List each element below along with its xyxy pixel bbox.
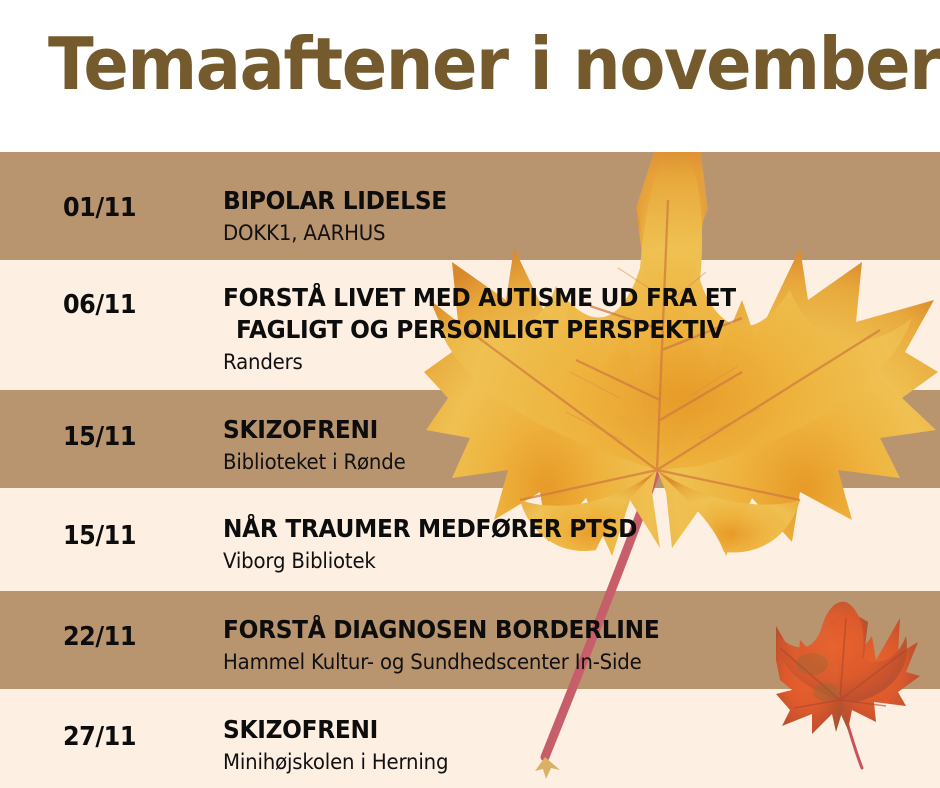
poster-header: Temaaftener i november [0,0,940,152]
schedule-bands [0,152,940,788]
schedule-band [0,591,940,689]
schedule-band [0,390,940,488]
page-title: Temaaftener i november [48,22,940,107]
schedule-band [0,152,940,260]
schedule-band [0,689,940,788]
schedule-band [0,488,940,591]
poster-canvas: Temaaftener i november [0,0,940,788]
schedule-band [0,260,940,390]
